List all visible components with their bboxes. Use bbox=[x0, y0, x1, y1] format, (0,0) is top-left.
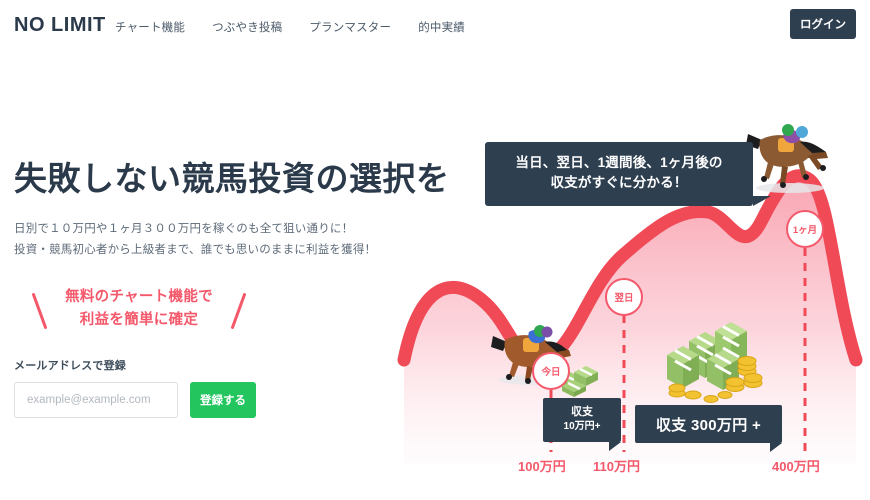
hero-copy-block: 失敗しない競馬投資の選択を 日別で１０万円や１ヶ月３００万円を稼ぐのも全て狙い通… bbox=[14, 160, 414, 418]
axis-label-next-day: 110万円 bbox=[593, 456, 640, 475]
balance-large-text: 収支 300万円 + bbox=[656, 414, 761, 435]
promo-callout: 無料のチャート機能で 利益を簡単に確定 bbox=[14, 286, 264, 331]
balance-box-large: 収支 300万円 + bbox=[635, 405, 782, 443]
balance-box-small: 収支 10万円+ bbox=[543, 398, 621, 442]
balance-small-plus: + bbox=[595, 421, 601, 432]
signup-form-label: メールアドレスで登録 bbox=[14, 357, 414, 373]
axis-label-today: 100万円 bbox=[518, 456, 566, 475]
site-header: NO LIMIT チャート機能 つぶやき投稿 プランマスター 的中実績 ログイン bbox=[0, 0, 870, 54]
main-navigation: チャート機能 つぶやき投稿 プランマスター 的中実績 bbox=[115, 19, 465, 35]
callout-line-2: 収支がすぐに分かる！ bbox=[495, 173, 743, 193]
chart-badge-today: 今日 bbox=[532, 352, 570, 390]
promo-line-2: 利益を簡単に確定 bbox=[14, 309, 264, 331]
balance-small-amount: 10万円+ bbox=[547, 420, 617, 434]
signup-submit-button[interactable]: 登録する bbox=[190, 382, 256, 418]
page-title: 失敗しない競馬投資の選択を bbox=[14, 160, 414, 198]
callout-line-1: 当日、翌日、1週間後、1ヶ月後の bbox=[495, 153, 743, 173]
hero-subtitle-line-1: 日別で１０万円や１ヶ月３００万円を稼ぐのも全て狙い通りに！ bbox=[14, 218, 414, 239]
promo-line-1: 無料のチャート機能で bbox=[14, 286, 264, 308]
feature-callout-bubble: 当日、翌日、1週間後、1ヶ月後の 収支がすぐに分かる！ bbox=[485, 142, 753, 206]
login-button[interactable]: ログイン bbox=[790, 9, 856, 39]
hero-chart-illustration: 今日 翌日 1ヶ月 収支 10万円+ 収支 300万円 + 100万円 110万… bbox=[390, 60, 870, 500]
balance-large-plus: + bbox=[752, 417, 761, 434]
hero-subtitle-line-2: 投資・競馬初心者から上級者まで、誰でも思いのままに利益を獲得！ bbox=[14, 239, 414, 260]
email-field[interactable] bbox=[14, 382, 178, 418]
brand-logo[interactable]: NO LIMIT bbox=[14, 14, 106, 37]
chart-badge-one-month: 1ヶ月 bbox=[786, 210, 824, 248]
landing-page: NO LIMIT チャート機能 つぶやき投稿 プランマスター 的中実績 ログイン… bbox=[0, 0, 870, 500]
signup-form: 登録する bbox=[14, 382, 414, 418]
balance-large-label: 収支 bbox=[656, 417, 687, 434]
racehorse-icon-right bbox=[740, 118, 836, 196]
balance-small-title: 収支 bbox=[547, 405, 617, 420]
nav-chart-features[interactable]: チャート機能 bbox=[115, 19, 185, 35]
chart-badge-next-day: 翌日 bbox=[605, 278, 643, 316]
balance-small-value: 10万円 bbox=[564, 421, 595, 432]
axis-label-one-month: 400万円 bbox=[772, 456, 820, 475]
hero-subtitle: 日別で１０万円や１ヶ月３００万円を稼ぐのも全て狙い通りに！ 投資・競馬初心者から… bbox=[14, 218, 414, 261]
nav-plan-master[interactable]: プランマスター bbox=[309, 19, 391, 35]
balance-large-value: 300万円 bbox=[691, 417, 748, 434]
money-stack-large-icon bbox=[655, 315, 767, 407]
nav-hit-results[interactable]: 的中実績 bbox=[418, 19, 465, 35]
nav-tweet-post[interactable]: つぶやき投稿 bbox=[212, 19, 282, 35]
